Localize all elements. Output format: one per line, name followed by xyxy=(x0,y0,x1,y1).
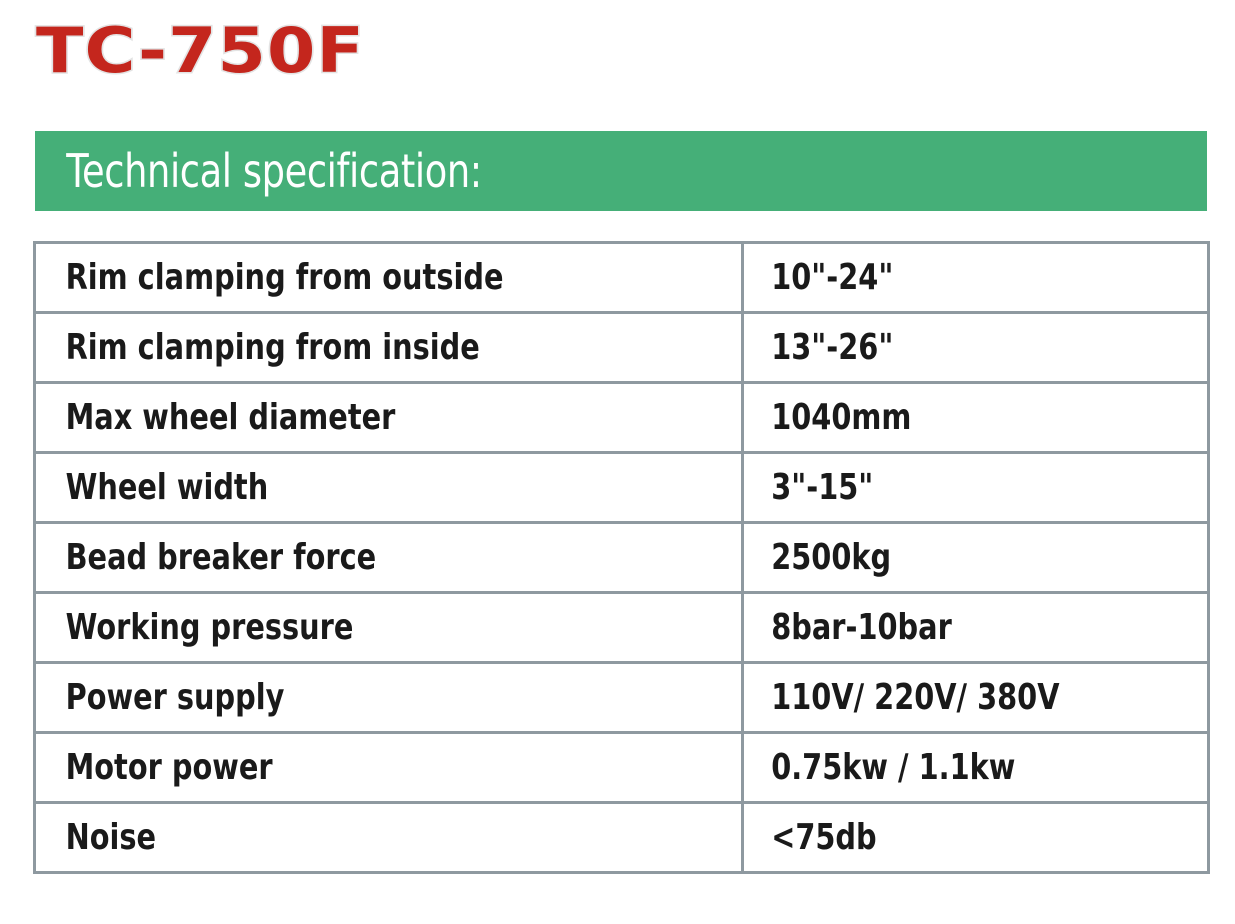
spec-label-text: Power supply xyxy=(36,680,600,716)
spec-label-text: Working pressure xyxy=(36,610,600,646)
table-row: Rim clamping from outside 10"-24" xyxy=(35,243,1209,313)
spec-label-text: Motor power xyxy=(36,750,600,786)
spec-label-text: Bead breaker force xyxy=(36,540,600,576)
spec-value-text: 1040mm xyxy=(744,400,1114,436)
spec-sheet: TC-750F Technical specification: Rim cla… xyxy=(0,0,1235,924)
spec-label-cell: Power supply xyxy=(35,663,743,733)
spec-label-text: Max wheel diameter xyxy=(36,400,600,436)
spec-value-cell: 13"-26" xyxy=(743,313,1209,383)
spec-value-text: 2500kg xyxy=(744,540,1114,576)
specification-table: Rim clamping from outside 10"-24" Rim cl… xyxy=(33,241,1210,874)
spec-label-cell: Rim clamping from inside xyxy=(35,313,743,383)
spec-value-cell: 2500kg xyxy=(743,523,1209,593)
table-row: Wheel width 3"-15" xyxy=(35,453,1209,523)
table-row: Noise <75db xyxy=(35,803,1209,873)
spec-label-cell: Wheel width xyxy=(35,453,743,523)
spec-value-text: 3"-15" xyxy=(744,470,1114,506)
section-header-title: Technical specification: xyxy=(35,148,482,194)
spec-label-cell: Noise xyxy=(35,803,743,873)
section-header-bar: Technical specification: xyxy=(35,131,1207,211)
table-row: Bead breaker force 2500kg xyxy=(35,523,1209,593)
spec-value-cell: 110V/ 220V/ 380V xyxy=(743,663,1209,733)
spec-label-cell: Rim clamping from outside xyxy=(35,243,743,313)
spec-label-text: Noise xyxy=(36,820,600,856)
spec-label-cell: Bead breaker force xyxy=(35,523,743,593)
table-row: Rim clamping from inside 13"-26" xyxy=(35,313,1209,383)
spec-value-cell: 10"-24" xyxy=(743,243,1209,313)
spec-label-text: Rim clamping from outside xyxy=(36,260,600,296)
spec-value-cell: <75db xyxy=(743,803,1209,873)
table-row: Working pressure 8bar-10bar xyxy=(35,593,1209,663)
spec-value-text: 110V/ 220V/ 380V xyxy=(744,680,1114,716)
specification-table-body: Rim clamping from outside 10"-24" Rim cl… xyxy=(35,243,1209,873)
spec-label-cell: Max wheel diameter xyxy=(35,383,743,453)
spec-label-text: Wheel width xyxy=(36,470,600,506)
spec-label-cell: Motor power xyxy=(35,733,743,803)
spec-label-text: Rim clamping from inside xyxy=(36,330,600,366)
spec-value-text: 10"-24" xyxy=(744,260,1114,296)
spec-value-cell: 1040mm xyxy=(743,383,1209,453)
table-row: Motor power 0.75kw / 1.1kw xyxy=(35,733,1209,803)
spec-value-text: 0.75kw / 1.1kw xyxy=(744,750,1114,786)
model-name-logo: TC-750F xyxy=(36,20,365,82)
table-row: Power supply 110V/ 220V/ 380V xyxy=(35,663,1209,733)
spec-value-cell: 0.75kw / 1.1kw xyxy=(743,733,1209,803)
spec-value-cell: 8bar-10bar xyxy=(743,593,1209,663)
spec-label-cell: Working pressure xyxy=(35,593,743,663)
spec-value-text: 8bar-10bar xyxy=(744,610,1114,646)
spec-value-text: 13"-26" xyxy=(744,330,1114,366)
spec-value-cell: 3"-15" xyxy=(743,453,1209,523)
table-row: Max wheel diameter 1040mm xyxy=(35,383,1209,453)
spec-value-text: <75db xyxy=(744,820,1114,856)
